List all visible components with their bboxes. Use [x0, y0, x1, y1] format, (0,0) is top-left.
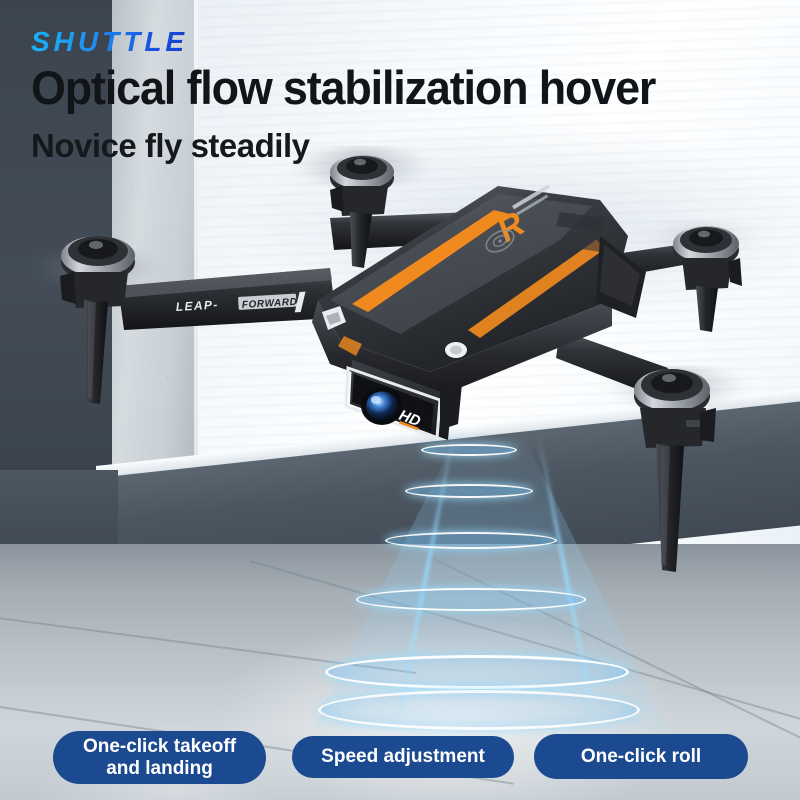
page-title: Optical flow stabilization hover	[31, 64, 757, 111]
product-poster: LEAP- FORWARD	[0, 0, 800, 800]
hover-ring	[405, 484, 533, 498]
brand-logo: SHUTTLE	[31, 26, 188, 58]
hover-ring	[421, 444, 517, 456]
page-subtitle: Novice fly steadily	[31, 129, 309, 162]
hover-ring	[356, 588, 586, 611]
feature-button-one-click-roll[interactable]: One-click roll	[534, 734, 748, 779]
hover-ring	[318, 690, 640, 730]
feature-button-speed-adjustment[interactable]: Speed adjustment	[292, 736, 514, 778]
feature-button-takeoff-landing[interactable]: One-click takeoffand landing	[53, 731, 266, 784]
hover-ring	[385, 532, 557, 549]
hover-ring	[325, 655, 629, 689]
